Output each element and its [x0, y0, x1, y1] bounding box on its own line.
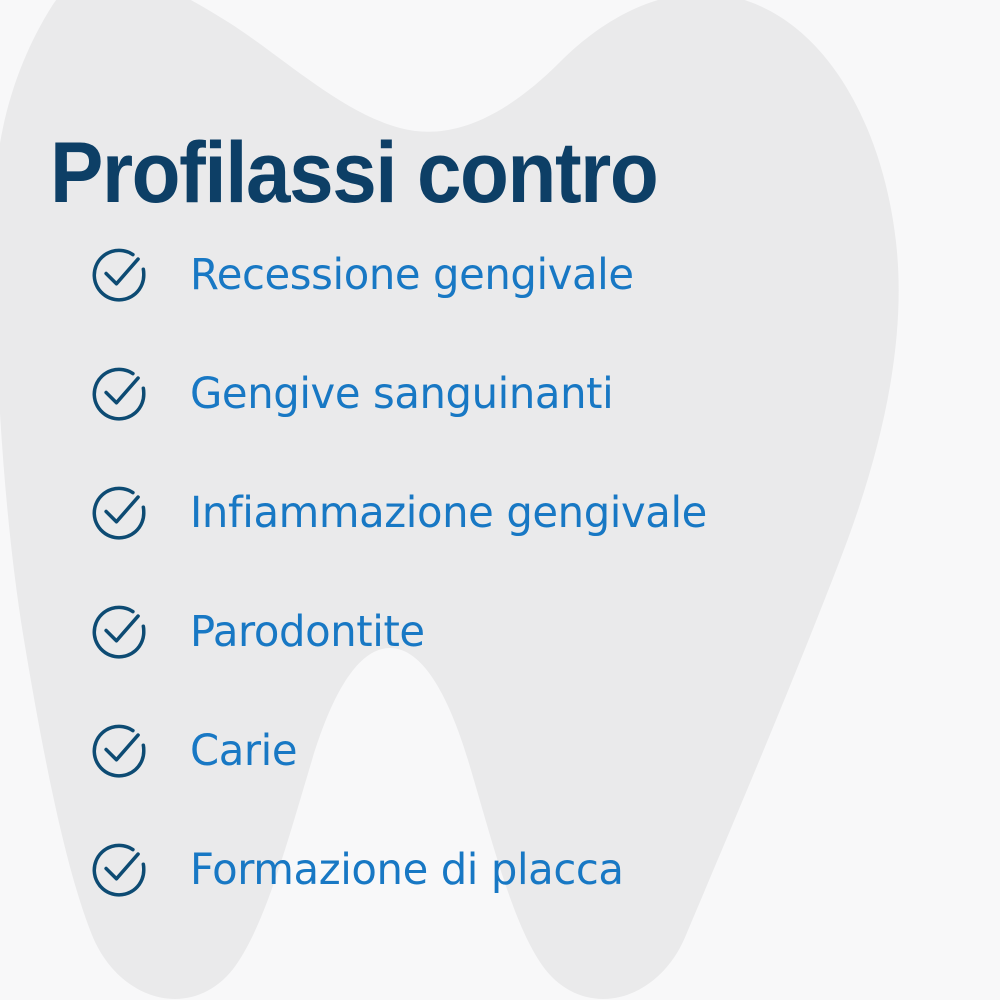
check-circle-icon — [86, 717, 152, 783]
list-item: Carie — [88, 720, 300, 782]
list-item-label: Gengive sanguinanti — [190, 373, 613, 416]
list-item: Recessione gengivale — [88, 244, 647, 306]
list-item-label: Infiammazione gengivale — [190, 492, 707, 535]
list-item-label: Recessione gengivale — [190, 254, 634, 297]
list-item-label: Formazione di placca — [190, 849, 624, 892]
poster-canvas: Profilassi contro Recessione gengivale G… — [0, 0, 1000, 1000]
check-circle-icon — [86, 836, 152, 902]
list-item: Gengive sanguinanti — [88, 363, 626, 425]
check-circle-icon — [86, 598, 152, 664]
list-item: Infiammazione gengivale — [88, 482, 723, 544]
list-item: Parodontite — [88, 601, 432, 663]
check-circle-icon — [86, 479, 152, 545]
content-layer: Profilassi contro Recessione gengivale G… — [0, 0, 1000, 1000]
list-item: Formazione di placca — [88, 839, 637, 901]
list-item-label: Carie — [190, 730, 297, 773]
check-circle-icon — [86, 360, 152, 426]
check-circle-icon — [86, 241, 152, 307]
benefits-checklist: Recessione gengivale Gengive sanguinanti… — [0, 0, 1000, 1000]
list-item-label: Parodontite — [190, 611, 425, 654]
